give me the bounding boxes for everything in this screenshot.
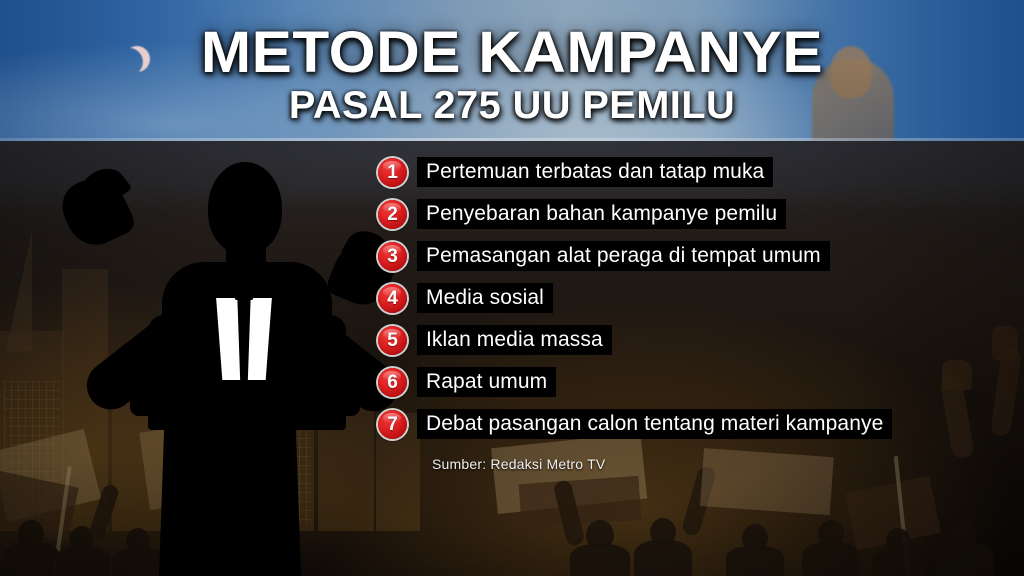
list-item: 4 Media sosial bbox=[378, 283, 978, 313]
list-item-label: Iklan media massa bbox=[417, 325, 612, 356]
list-item: 6 Rapat umum bbox=[378, 367, 978, 397]
method-list: 1 Pertemuan terbatas dan tatap muka 2 Pe… bbox=[378, 157, 978, 451]
list-number-badge: 5 bbox=[378, 326, 407, 355]
list-item: 3 Pemasangan alat peraga di tempat umum bbox=[378, 241, 978, 271]
list-item: 1 Pertemuan terbatas dan tatap muka bbox=[378, 157, 978, 187]
podium-body bbox=[159, 413, 301, 576]
list-item: 2 Penyebaran bahan kampanye pemilu bbox=[378, 199, 978, 229]
list-item-label: Pemasangan alat peraga di tempat umum bbox=[417, 241, 830, 272]
list-number-badge: 2 bbox=[378, 200, 407, 229]
list-number-badge: 3 bbox=[378, 242, 407, 271]
list-item-label: Pertemuan terbatas dan tatap muka bbox=[417, 157, 773, 188]
list-item: 5 Iklan media massa bbox=[378, 325, 978, 355]
list-item-label: Media sosial bbox=[417, 283, 553, 314]
source-attribution: Sumber: Redaksi Metro TV bbox=[432, 456, 605, 472]
list-item: 7 Debat pasangan calon tentang materi ka… bbox=[378, 409, 978, 439]
speaker-silhouette bbox=[52, 150, 402, 576]
page-title: METODE KAMPANYE bbox=[0, 24, 1024, 82]
list-item-label: Debat pasangan calon tentang materi kamp… bbox=[417, 409, 892, 440]
list-number-badge: 4 bbox=[378, 284, 407, 313]
page-subtitle: PASAL 275 UU PEMILU bbox=[0, 86, 1024, 125]
infographic-slide: METODE KAMPANYE PASAL 275 UU PEMILU 1 Pe… bbox=[0, 0, 1024, 576]
list-number-badge: 1 bbox=[378, 158, 407, 187]
title-block: METODE KAMPANYE PASAL 275 UU PEMILU bbox=[0, 24, 1024, 125]
list-number-badge: 6 bbox=[378, 368, 407, 397]
list-number-badge: 7 bbox=[378, 410, 407, 439]
list-item-label: Penyebaran bahan kampanye pemilu bbox=[417, 199, 786, 230]
list-item-label: Rapat umum bbox=[417, 367, 556, 398]
